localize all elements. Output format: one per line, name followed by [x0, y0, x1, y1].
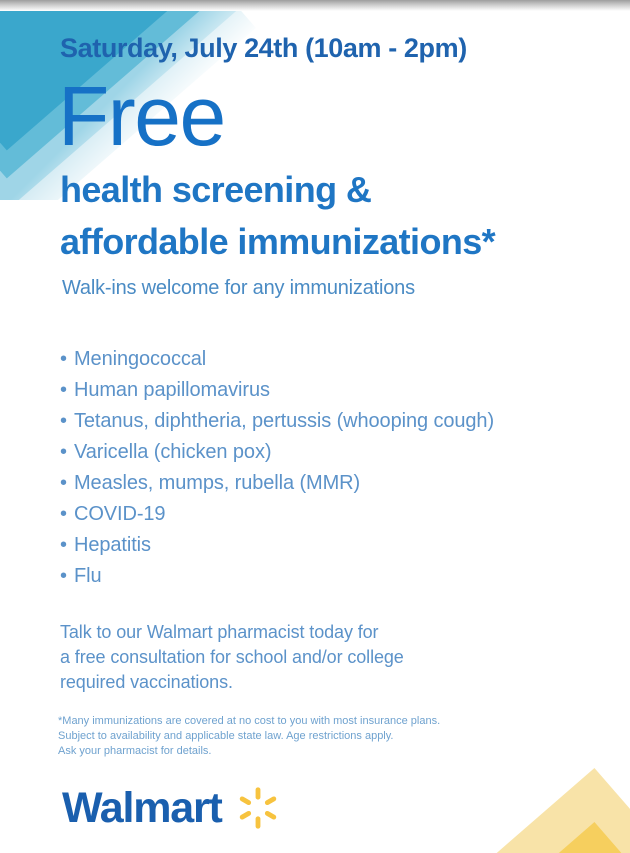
event-date-line: Saturday, July 24th (10am - 2pm) — [60, 33, 467, 64]
bullet-marker: • — [60, 375, 74, 406]
list-item-label: Measles, mumps, rubella (MMR) — [74, 472, 360, 494]
list-item: •COVID-19 — [60, 499, 494, 530]
list-item-label: COVID-19 — [74, 503, 165, 525]
disclaimer-line-3: Ask your pharmacist for details. — [58, 744, 440, 759]
list-item: •Varicella (chicken pox) — [60, 437, 494, 468]
consultation-paragraph: Talk to our Walmart pharmacist today for… — [60, 620, 404, 695]
headline-health-screening: health screening & — [60, 172, 371, 208]
list-item: •Human papillomavirus — [60, 375, 494, 406]
bullet-marker: • — [60, 530, 74, 561]
bullet-marker: • — [60, 406, 74, 437]
walmart-spark-icon — [236, 786, 280, 830]
bullet-marker: • — [60, 561, 74, 592]
consultation-line-1: Talk to our Walmart pharmacist today for — [60, 620, 404, 645]
consultation-line-3: required vaccinations. — [60, 670, 404, 695]
bullet-marker: • — [60, 437, 74, 468]
bullet-marker: • — [60, 499, 74, 530]
disclaimer-line-2: Subject to availability and applicable s… — [58, 729, 440, 744]
walmart-wordmark: Walmart — [62, 787, 222, 830]
list-item-label: Hepatitis — [74, 534, 151, 556]
list-item: •Hepatitis — [60, 530, 494, 561]
immunization-flyer: Saturday, July 24th (10am - 2pm) Free he… — [0, 0, 630, 853]
headline-affordable-immunizations: affordable immunizations* — [60, 224, 495, 260]
disclaimer-text: *Many immunizations are covered at no co… — [58, 714, 440, 759]
list-item: •Flu — [60, 561, 494, 592]
headline-free: Free — [58, 74, 225, 158]
list-item-label: Flu — [74, 565, 101, 587]
walk-ins-note: Walk-ins welcome for any immunizations — [62, 277, 415, 300]
bullet-marker: • — [60, 468, 74, 499]
list-item: •Meningococcal — [60, 344, 494, 375]
list-item: •Measles, mumps, rubella (MMR) — [60, 468, 494, 499]
list-item-label: Tetanus, diphtheria, pertussis (whooping… — [74, 410, 494, 432]
list-item-label: Varicella (chicken pox) — [74, 441, 271, 463]
list-item: •Tetanus, diphtheria, pertussis (whoopin… — [60, 406, 494, 437]
consultation-line-2: a free consultation for school and/or co… — [60, 645, 404, 670]
list-item-label: Meningococcal — [74, 348, 206, 370]
flyer-content: Saturday, July 24th (10am - 2pm) Free he… — [0, 0, 630, 853]
bullet-marker: • — [60, 344, 74, 375]
disclaimer-line-1: *Many immunizations are covered at no co… — [58, 714, 440, 729]
walmart-logo: Walmart — [62, 786, 280, 830]
vaccine-list: •Meningococcal •Human papillomavirus •Te… — [60, 344, 494, 592]
list-item-label: Human papillomavirus — [74, 379, 270, 401]
